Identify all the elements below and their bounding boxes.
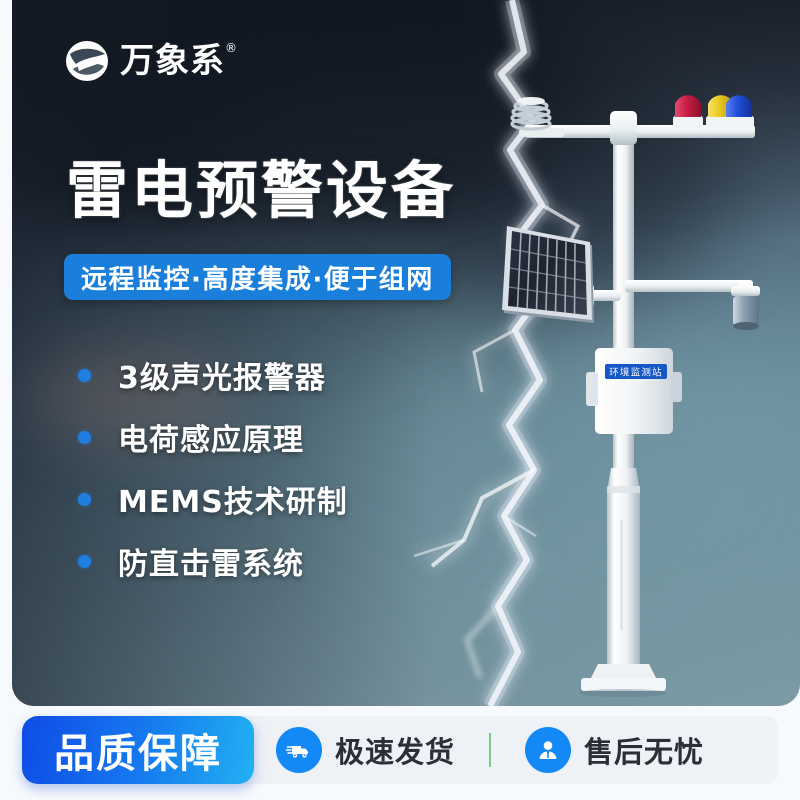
bullet-dot-icon (78, 493, 91, 506)
feature-label: MEMS技术研制 (118, 477, 348, 521)
red-alarm-beacon (673, 95, 703, 128)
brand-logo: 万象系® (64, 38, 225, 84)
feature-label: 电荷感应原理 (118, 415, 304, 459)
control-box: 环境监测站 (586, 348, 682, 434)
bullet-dot-icon (78, 431, 91, 444)
feature-list: 3级声光报警器 电荷感应原理 MEMS技术研制 防直击雷系统 (78, 344, 348, 592)
alarm-beacon-stack (673, 95, 754, 128)
control-box-label-text: 环境监测站 (609, 367, 663, 379)
base-flange (579, 664, 667, 697)
solar-panel (502, 226, 594, 323)
promo-divider (489, 733, 491, 767)
list-item: 防直击雷系统 (78, 530, 348, 592)
promo-fast-shipping: 极速发货 (276, 727, 455, 773)
subtitle-badge-label: 远程监控·高度集成·便于组网 (81, 259, 434, 296)
promo-label: 售后无忧 (584, 729, 704, 771)
list-item: MEMS技术研制 (78, 468, 348, 530)
lower-mast (607, 468, 640, 664)
bullet-dot-icon (78, 555, 91, 568)
list-item: 3级声光报警器 (78, 344, 348, 406)
promo-after-sales: 售后无忧 (525, 727, 704, 773)
subtitle-badge: 远程监控·高度集成·便于组网 (64, 254, 451, 300)
bullet-dot-icon (78, 369, 91, 382)
sphere-swoosh-logo-icon (64, 38, 110, 84)
promo-group: 极速发货 售后无忧 (276, 727, 704, 773)
registered-trademark-icon: ® (225, 42, 238, 54)
quality-guarantee-label: 品质保障 (54, 721, 222, 779)
feature-label: 防直击雷系统 (118, 539, 304, 583)
rain-sensor-arm (625, 280, 760, 330)
support-agent-icon (525, 727, 571, 773)
cylindrical-sensor (733, 296, 759, 326)
blue-alarm-beacon (724, 95, 754, 128)
delivery-truck-icon (276, 727, 322, 773)
promotional-poster: 环境监测站 (0, 0, 800, 800)
quality-guarantee-badge: 品质保障 (22, 716, 254, 784)
hero-image-panel: 环境监测站 (12, 0, 800, 706)
feature-label: 3级声光报警器 (118, 353, 326, 397)
radiation-shield-sensor (512, 97, 565, 137)
list-item: 电荷感应原理 (78, 406, 348, 468)
page-title: 雷电预警设备 (66, 160, 456, 222)
arm-clamp (610, 111, 637, 145)
service-guarantee-bar: 品质保障 (22, 716, 778, 784)
brand-name: 万象系® (120, 44, 225, 78)
promo-label: 极速发货 (335, 729, 455, 771)
